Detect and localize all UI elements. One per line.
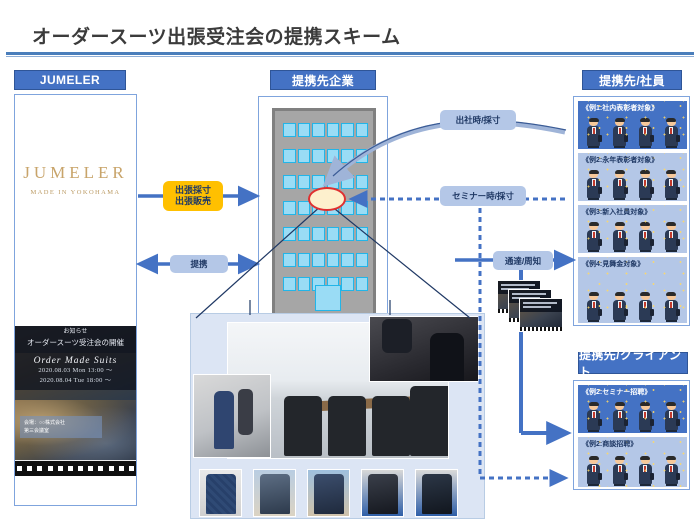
title-rule — [6, 52, 694, 55]
photo-suit-swatch — [361, 469, 404, 517]
section-header-partner-clients-label: 提携先/クライアント — [579, 346, 687, 380]
flow-label-seminar: セミナー時/採寸 — [440, 186, 526, 206]
photo-measuring-session — [369, 316, 479, 382]
section-header-jumeler: JUMELER — [14, 70, 126, 90]
focus-highlight-oval — [308, 187, 346, 211]
poster-film-strip — [15, 460, 136, 476]
building-entrance — [315, 285, 341, 311]
partner-clients-panel: 《例2:セミナー招聘》 《例2:商談招聘》 — [573, 380, 690, 490]
employee-case-label: 《例3:新入社員対象》 — [582, 207, 651, 217]
jumeler-logo-text: JUMELER — [15, 163, 136, 183]
flow-label-dispatch: 出張採寸 出張販売 — [163, 181, 223, 211]
partner-employees-panel: 《例1:社内表彰者対象》 《例2:永年表彰者対象》 《例3:新入社員対象》 — [573, 96, 690, 326]
notice-thumbnail — [519, 298, 563, 332]
poster-date-1: 2020.08.03 Mon 13:00 ～ — [15, 366, 136, 376]
poster-title: Order Made Suits — [15, 356, 136, 366]
employee-case-card: 《例1:社内表彰者対象》 — [578, 101, 687, 149]
jumeler-logo-subtext: MADE IN YOKOHAMA — [15, 189, 136, 196]
title-rule-thin — [6, 56, 694, 57]
employee-case-card: 《例3:新入社員対象》 — [578, 205, 687, 253]
employee-case-card: 《例4:見舞金対象》 — [578, 257, 687, 323]
building-floor — [283, 227, 368, 241]
photo-suit-swatch — [253, 469, 296, 517]
photo-suit-swatch — [415, 469, 458, 517]
employee-case-label: 《例4:見舞金対象》 — [582, 259, 644, 269]
page-title: オーダースーツ出張受注会の提携スキーム — [32, 22, 401, 49]
client-case-card: 《例2:セミナー招聘》 — [578, 385, 687, 433]
photo-collage — [190, 313, 485, 519]
slide-canvas: オーダースーツ出張受注会の提携スキーム JUMELER JUMELER MADE… — [0, 0, 700, 521]
poster-notice-label: お知らせ — [15, 328, 136, 337]
building-floor — [283, 253, 368, 267]
photo-fitting — [193, 374, 271, 458]
client-case-label: 《例2:セミナー招聘》 — [582, 387, 651, 397]
section-header-partner-company-label: 提携先企業 — [292, 72, 354, 89]
employee-case-card: 《例2:永年表彰者対象》 — [578, 153, 687, 201]
event-poster: お知らせ オーダースーツ受注会の開催 Order Made Suits 2020… — [15, 326, 136, 476]
flow-label-dispatch-line1: 出張採寸 — [175, 185, 211, 196]
poster-venue-line-1: 会場：○○株式会社 — [24, 419, 98, 427]
flow-label-alliance: 提携 — [170, 255, 228, 273]
poster-venue-line-2: 第三会議室 — [24, 427, 98, 435]
poster-details: Order Made Suits 2020.08.03 Mon 13:00 ～ … — [15, 353, 136, 390]
section-header-partner-clients: 提携先/クライアント — [578, 352, 688, 374]
notice-thumbnail-stack — [497, 280, 567, 332]
section-header-partner-employees-label: 提携先/社員 — [599, 72, 665, 89]
photo-suit-swatch — [307, 469, 350, 517]
building-floor — [283, 149, 368, 163]
flow-label-on-arrival: 出社時/採寸 — [440, 110, 516, 130]
flow-label-notify: 通達/周知 — [493, 251, 553, 270]
employee-case-label: 《例2:永年表彰者対象》 — [582, 155, 658, 165]
photo-suit-swatch — [199, 469, 242, 517]
office-building-graphic — [272, 108, 376, 320]
client-case-label: 《例2:商談招聘》 — [582, 439, 637, 449]
flow-label-dispatch-line2: 出張販売 — [175, 196, 211, 207]
section-header-partner-company: 提携先企業 — [270, 70, 376, 90]
section-header-partner-employees: 提携先/社員 — [582, 70, 682, 90]
section-header-jumeler-label: JUMELER — [40, 73, 100, 87]
client-case-card: 《例2:商談招聘》 — [578, 437, 687, 487]
poster-header: お知らせ オーダースーツ受注会の開催 — [15, 326, 136, 353]
poster-date-2: 2020.08.04 Tue 18:00 ～ — [15, 376, 136, 386]
building-floor — [283, 123, 368, 137]
poster-venue: 会場：○○株式会社 第三会議室 — [20, 416, 102, 438]
employee-case-label: 《例1:社内表彰者対象》 — [582, 103, 658, 113]
poster-headline: オーダースーツ受注会の開催 — [15, 337, 136, 348]
jumeler-brand: JUMELER MADE IN YOKOHAMA — [15, 163, 136, 196]
